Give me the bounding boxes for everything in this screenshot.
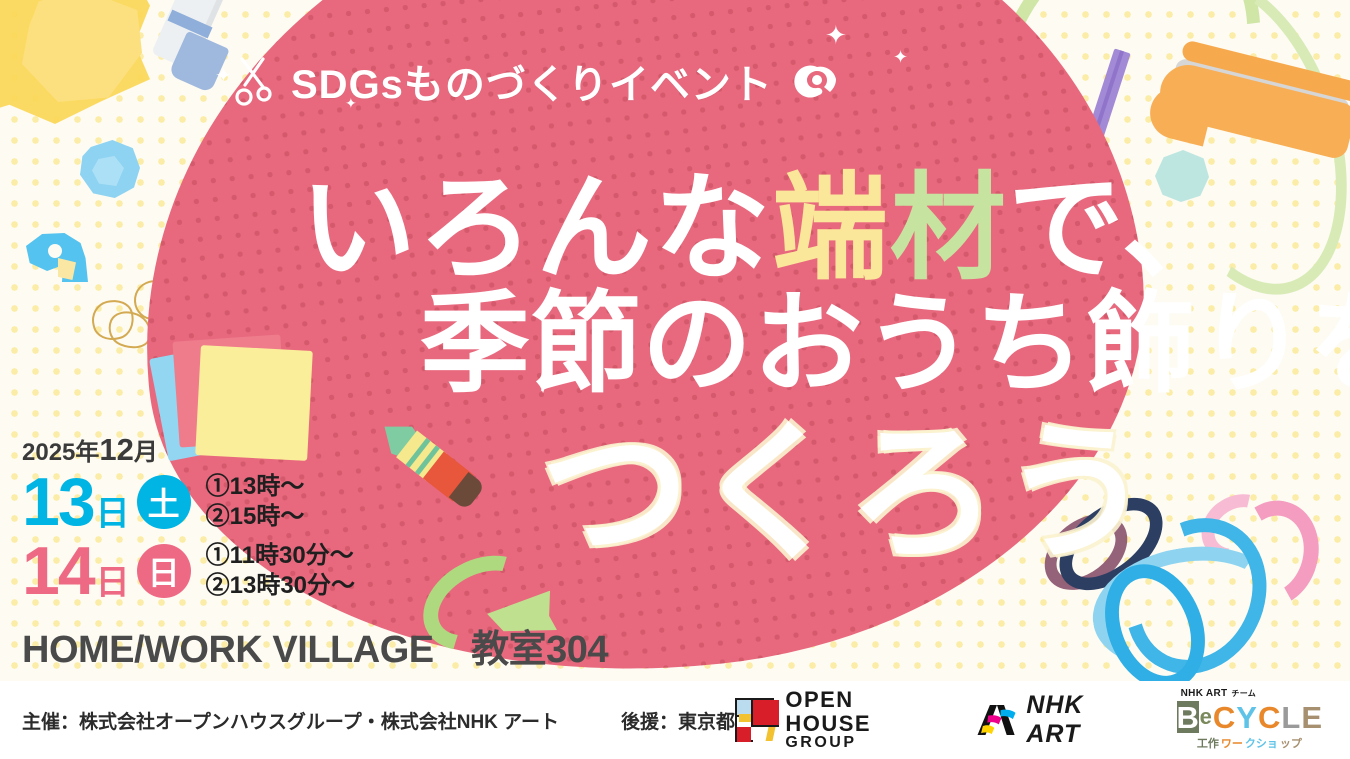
year-month: 2025年12月	[22, 432, 355, 468]
be-cycle-char-b: B	[1177, 701, 1199, 733]
schedule-row-saturday: 13日 土 ①13時〜 ②15時〜	[22, 470, 355, 535]
open-house-line-2: GROUP	[785, 734, 856, 751]
organizer-text: 主催：株式会社オープンハウスグループ・株式会社NHK アート	[22, 707, 559, 734]
footer-logos: OPEN HOUSE GROUP NHK ART NHK ARTチーム	[735, 688, 1350, 752]
year-month-prefix: 2025年	[22, 439, 99, 466]
be-cycle-subtitle: 工作 ワー クショ ップ	[1197, 735, 1302, 751]
sparkle-icon: ✦	[825, 22, 847, 48]
open-house-wordmark: OPEN HOUSE GROUP	[785, 688, 928, 752]
tape-dispenser-hole-icon	[48, 244, 62, 258]
be-cycle-char-c2: C	[1258, 702, 1280, 733]
day-of-week-badge-sunday: 日	[137, 544, 191, 598]
month-number: 12	[99, 432, 133, 467]
open-house-mark-icon	[735, 698, 774, 742]
open-house-group-logo: OPEN HOUSE GROUP	[735, 688, 928, 752]
session-time: ②15時〜	[206, 502, 305, 532]
be-cycle-sub-1: 工作	[1197, 735, 1219, 751]
headline-line-1-plain-b: で、	[1008, 163, 1239, 293]
headline-line-1: いろんな端材で、	[300, 170, 1239, 286]
nhk-art-mark-icon	[974, 699, 1016, 741]
sparkle-icon: ✦	[893, 48, 908, 66]
be-cycle-char-e: e	[1200, 706, 1212, 728]
sparkle-icon: ✦	[215, 66, 232, 86]
sparkle-icon: ✦	[345, 96, 357, 110]
session-times-sunday: ①11時30分〜 ②13時30分〜	[206, 541, 355, 601]
be-cycle-char-y: Y	[1236, 702, 1257, 733]
be-cycle-sub-4: ップ	[1280, 735, 1302, 751]
day-unit: 日	[96, 495, 128, 533]
day-number-value: 13	[22, 464, 94, 540]
day-unit: 日	[96, 564, 128, 602]
schedule-block: 2025年12月 13日 土 ①13時〜 ②15時〜 14日 日 ①11時30分…	[22, 432, 355, 607]
day-number-13: 13日	[22, 470, 128, 535]
schedule-row-sunday: 14日 日 ①11時30分〜 ②13時30分〜	[22, 539, 355, 604]
be-cycle-sub-2: ワー	[1221, 735, 1243, 751]
be-cycle-sub-3: クショ	[1245, 735, 1278, 751]
headline-line-1-plain-a: いろんな	[300, 163, 772, 293]
be-cycle-logo: NHK ARTチーム B e C Y C L E 工作 ワー クショ ップ	[1177, 688, 1322, 751]
washi-tape-icon	[787, 57, 839, 105]
be-cycle-top-label: NHK ARTチーム	[1181, 688, 1256, 699]
footer-bar: 主催：株式会社オープンハウスグループ・株式会社NHK アート 後援：東京都 OP…	[0, 681, 1350, 759]
nhk-art-logo: NHK ART	[974, 691, 1131, 749]
headline-line-1-accent-zai: 材	[890, 163, 1008, 293]
day-number-14: 14日	[22, 539, 128, 604]
be-cycle-char-l: L	[1281, 702, 1300, 733]
headline-line-3: つくろう	[540, 418, 1156, 568]
be-cycle-top-team: チーム	[1231, 689, 1256, 698]
supporter-text: 後援：東京都	[621, 707, 735, 734]
be-cycle-char-c1: C	[1213, 702, 1235, 733]
be-cycle-char-e2: E	[1301, 702, 1322, 733]
event-kicker: SDGsものづくりイベント ✦ ✦ ✦ ✦	[233, 52, 839, 110]
session-time: ②13時30分〜	[206, 571, 355, 601]
footer-credits: 主催：株式会社オープンハウスグループ・株式会社NHK アート 後援：東京都	[0, 707, 735, 734]
day-number-value: 14	[22, 533, 94, 609]
session-time: ①13時〜	[206, 472, 305, 502]
venue-text: HOME/WORK VILLAGE 教室304	[22, 618, 608, 673]
nhk-art-wordmark: NHK ART	[1026, 691, 1130, 749]
be-cycle-wordmark: B e C Y C L E	[1177, 700, 1322, 734]
day-of-week-badge-saturday: 土	[137, 475, 191, 529]
headline-line-1-accent-hashi: 端	[772, 163, 890, 293]
scissors-icon	[233, 53, 277, 109]
be-cycle-top-brand: NHK ART	[1181, 688, 1228, 699]
open-house-line-1: OPEN HOUSE	[785, 687, 871, 736]
event-poster: SDGsものづくりイベント ✦ ✦ ✦ ✦ いろんな端材で、 季節のおうち飾りを…	[0, 0, 1350, 759]
kicker-text: SDGsものづくりイベント	[291, 52, 773, 110]
month-suffix: 月	[134, 439, 158, 466]
session-time: ①11時30分〜	[206, 541, 355, 571]
session-times-saturday: ①13時〜 ②15時〜	[206, 472, 305, 532]
headline-line-2: 季節のおうち飾りを	[420, 290, 1350, 400]
